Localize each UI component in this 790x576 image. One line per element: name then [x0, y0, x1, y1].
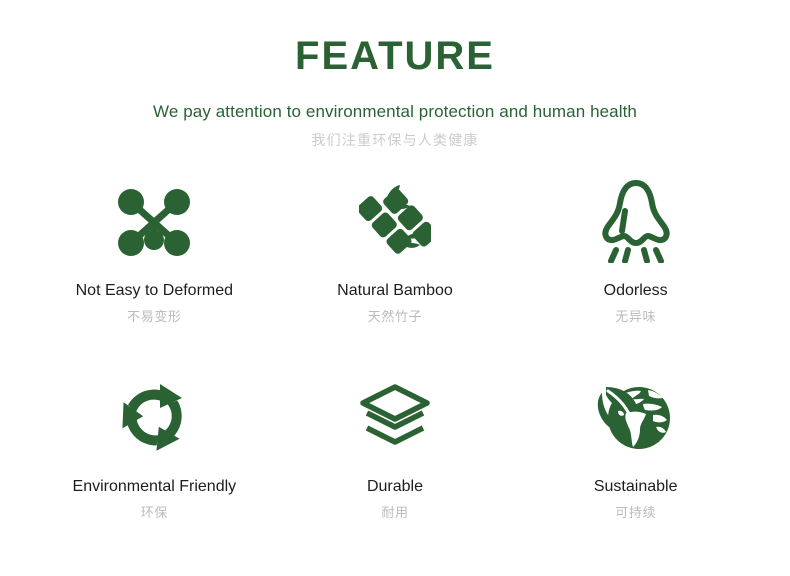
feature-section: FEATURE We pay attention to environmenta…	[0, 0, 790, 576]
feature-label-en: Not Easy to Deformed	[76, 281, 233, 300]
feature-label-cn: 不易变形	[127, 309, 181, 325]
layers-stack-icon	[358, 367, 432, 467]
feature-label-en: Odorless	[604, 281, 668, 300]
feature-label-en: Environmental Friendly	[73, 477, 237, 496]
feature-label-en: Durable	[367, 477, 423, 496]
feature-grid: Not Easy to Deformed 不易变形	[0, 171, 790, 563]
feature-item-environmental-friendly: Environmental Friendly 环保	[34, 367, 275, 563]
feature-label-cn: 耐用	[381, 505, 408, 521]
nose-icon	[597, 171, 675, 271]
feature-label-en: Sustainable	[594, 477, 678, 496]
feature-item-durable: Durable 耐用	[275, 367, 516, 563]
feature-label-cn: 天然竹子	[368, 309, 422, 325]
feature-item-not-easy-to-deformed: Not Easy to Deformed 不易变形	[34, 171, 275, 367]
recycle-icon	[114, 367, 194, 467]
subtitle-chinese: 我们注重环保与人类健康	[0, 132, 790, 149]
section-header: FEATURE We pay attention to environmenta…	[0, 0, 790, 149]
feature-label-en: Natural Bamboo	[337, 281, 453, 300]
feature-item-natural-bamboo: Natural Bamboo 天然竹子	[275, 171, 516, 367]
feature-label-cn: 环保	[141, 505, 168, 521]
bamboo-icon	[359, 171, 431, 271]
feature-label-cn: 无异味	[615, 309, 656, 325]
globe-leaf-icon	[596, 367, 676, 467]
feature-item-sustainable: Sustainable 可持续	[515, 367, 756, 563]
feature-item-odorless: Odorless 无异味	[515, 171, 756, 367]
molecule-nodes-icon	[115, 171, 193, 271]
feature-label-cn: 可持续	[615, 505, 656, 521]
subtitle-english: We pay attention to environmental protec…	[0, 102, 790, 122]
page-title: FEATURE	[0, 34, 790, 78]
